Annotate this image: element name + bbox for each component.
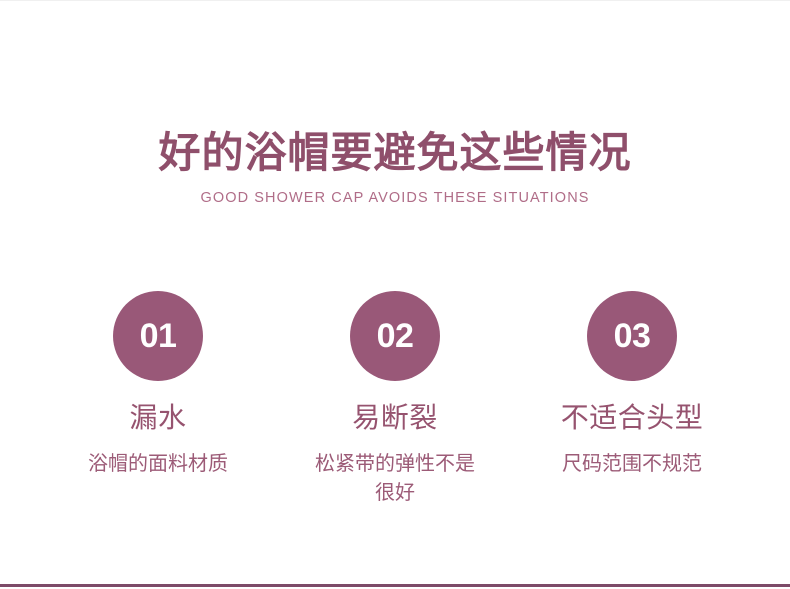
feature-title-02: 易断裂 — [352, 402, 438, 434]
feature-columns: 01 漏水 浴帽的面料材质 02 易断裂 松紧带的弹性不是很好 03 不适合头型… — [40, 291, 750, 507]
badge-number-label: 01 — [140, 319, 177, 353]
number-badge-02: 02 — [350, 291, 440, 381]
feature-column-02: 02 易断裂 松紧带的弹性不是很好 — [277, 291, 513, 507]
feature-column-01: 01 漏水 浴帽的面料材质 — [40, 291, 276, 479]
feature-title-01: 漏水 — [129, 402, 186, 434]
feature-column-03: 03 不适合头型 尺码范围不规范 — [514, 291, 750, 479]
feature-description-03: 尺码范围不规范 — [562, 450, 702, 478]
page-title: 好的浴帽要避免这些情况 — [0, 129, 790, 176]
number-badge-01: 01 — [113, 291, 203, 381]
heading-block: 好的浴帽要避免这些情况 GOOD SHOWER CAP AVOIDS THESE… — [0, 129, 790, 206]
page-subtitle: GOOD SHOWER CAP AVOIDS THESE SITUATIONS — [0, 190, 790, 206]
feature-description-01: 浴帽的面料材质 — [88, 450, 228, 478]
promo-banner: 好的浴帽要避免这些情况 GOOD SHOWER CAP AVOIDS THESE… — [0, 0, 790, 589]
feature-title-03: 不适合头型 — [561, 402, 704, 434]
badge-number-label: 02 — [377, 319, 414, 353]
number-badge-03: 03 — [587, 291, 677, 381]
feature-description-02: 松紧带的弹性不是很好 — [310, 450, 480, 507]
bottom-divider — [0, 584, 790, 587]
badge-number-label: 03 — [614, 319, 651, 353]
